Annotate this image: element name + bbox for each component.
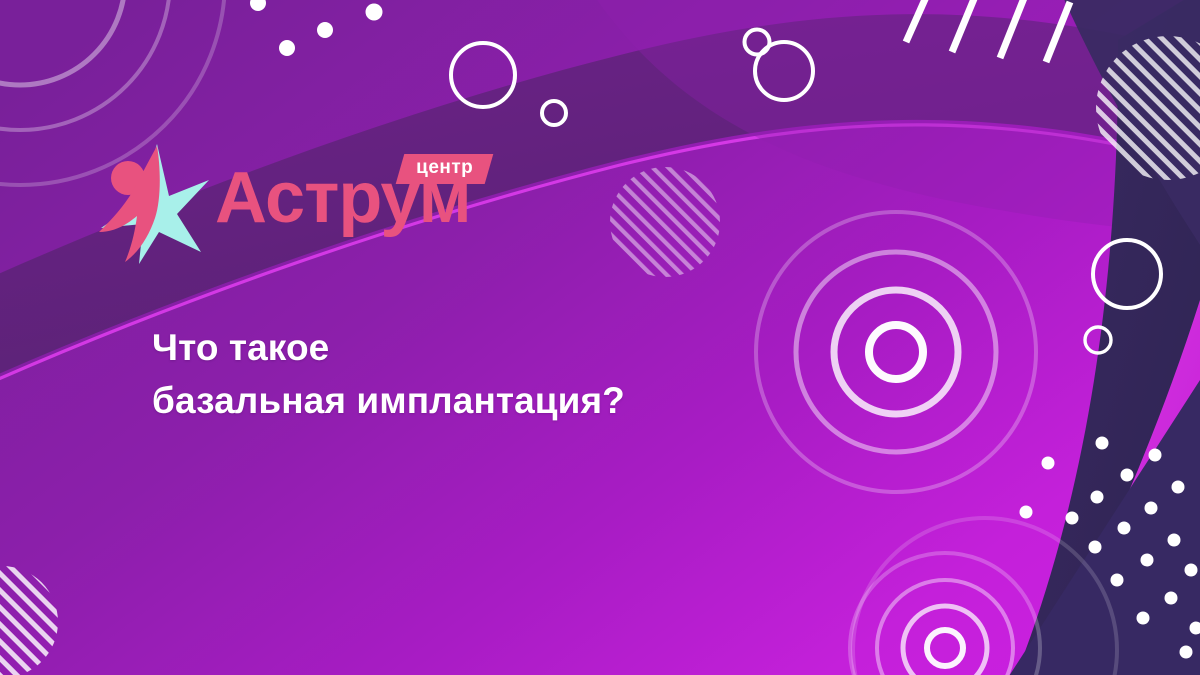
slide-headline: Что такое базальная имплантация? — [152, 322, 772, 427]
headline-line-2: базальная имплантация? — [152, 375, 772, 428]
logo-astrum[interactable]: Аструм центр — [95, 140, 515, 265]
logo-mark-icon — [95, 140, 213, 265]
headline-line-1: Что такое — [152, 322, 772, 375]
slide-canvas: Аструм центр Что такое базальная имплант… — [0, 0, 1200, 675]
logo-badge: центр — [396, 154, 494, 184]
logo-badge-label: центр — [416, 158, 473, 179]
